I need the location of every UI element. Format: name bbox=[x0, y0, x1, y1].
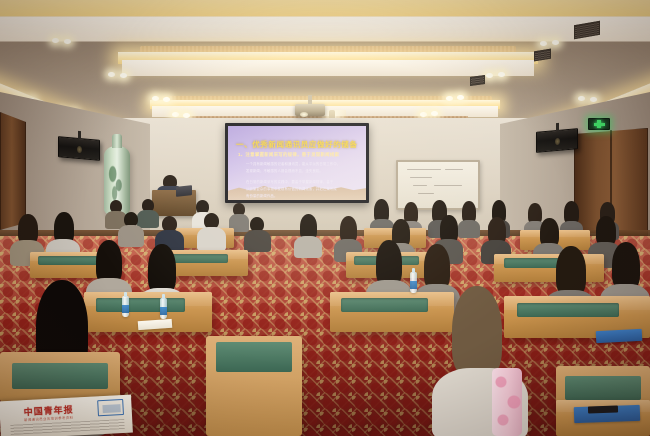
seat-cushion bbox=[96, 298, 186, 312]
downlight bbox=[420, 112, 427, 117]
water-bottle bbox=[410, 272, 417, 293]
exit-sign bbox=[588, 118, 610, 130]
wall-speaker-left bbox=[58, 136, 100, 161]
attendee-torso bbox=[294, 236, 322, 258]
slide-body-line: 从纷繁复杂的事物中发现有价值的新闻线索，并把它采写成 bbox=[246, 186, 356, 192]
downlight bbox=[457, 95, 464, 100]
cove-light-outer bbox=[0, 0, 650, 16]
attendee-torso bbox=[197, 227, 226, 251]
ceiling-air-vent bbox=[534, 49, 551, 62]
desk bbox=[330, 292, 454, 332]
attendee-torso bbox=[137, 210, 159, 228]
whiteboard-writing bbox=[407, 169, 441, 170]
attendee-torso bbox=[118, 225, 144, 247]
downlight bbox=[486, 73, 493, 78]
wall-speaker-right bbox=[536, 128, 578, 153]
seat-cushion bbox=[38, 256, 101, 265]
projection-screen-frame: 一、优秀新闻通讯员应做好的储备 1、注意掌握新闻采写的规律，善于发现新闻线索 一… bbox=[225, 123, 369, 203]
chair-cushion bbox=[565, 376, 640, 400]
whiteboard-writing bbox=[445, 169, 463, 170]
pink-polka-dot-item bbox=[492, 368, 522, 436]
slide-body-line: 一个具有新闻敏感的记者和通讯员，能从平淡的日常工作中， bbox=[246, 161, 356, 167]
slide-title: 一、优秀新闻通讯员应做好的储备 bbox=[236, 139, 360, 150]
exit-cross-icon bbox=[594, 120, 605, 128]
seat-cushion bbox=[341, 298, 428, 312]
ceiling-soffit-middle bbox=[122, 60, 534, 76]
attendee-torso bbox=[244, 230, 271, 252]
downlight bbox=[64, 39, 71, 44]
downlight bbox=[552, 40, 559, 45]
conference-room-photo: 一、优秀新闻通讯员应做好的储备 1、注意掌握新闻采写的规律，善于发现新闻线索 一… bbox=[0, 0, 650, 436]
newspaper: 中国青年报 新闻通讯员业务培训参考资料 bbox=[0, 395, 133, 436]
downlight bbox=[172, 112, 179, 117]
attendee-hair bbox=[452, 286, 502, 378]
attendee-hair bbox=[612, 242, 640, 290]
chair-cushion bbox=[216, 342, 293, 372]
downlight bbox=[163, 97, 170, 102]
attendee-hair bbox=[556, 246, 586, 296]
slide-body-line: 有份量的新闻作品。 bbox=[246, 193, 356, 199]
downlight bbox=[540, 41, 547, 46]
downlight bbox=[498, 72, 505, 77]
slide-subtitle: 1、注意掌握新闻采写的规律，善于发现新闻线索 bbox=[238, 152, 358, 158]
ceiling-projector bbox=[295, 104, 325, 116]
blue-folder bbox=[596, 329, 643, 343]
slide-body-line: 发现新闻；不敏感的人则会视而不见，坐失良机。 bbox=[246, 168, 356, 174]
downlight bbox=[578, 96, 585, 101]
laptop bbox=[176, 185, 192, 197]
downlight bbox=[120, 73, 127, 78]
door-left[interactable] bbox=[0, 112, 26, 230]
downlight bbox=[431, 111, 438, 116]
chair-cushion bbox=[12, 363, 108, 389]
slide-body-line: 在日常的新闻采写的实践中，要善于掌握新闻规律，善于 bbox=[246, 179, 356, 185]
slide-body: 一个具有新闻敏感的记者和通讯员，能从平淡的日常工作中， 发现新闻；不敏感的人则会… bbox=[246, 161, 356, 200]
whiteboard-writing bbox=[410, 177, 432, 178]
mobile-phone bbox=[588, 405, 618, 413]
whiteboard-writing bbox=[413, 185, 427, 186]
chair-back bbox=[206, 336, 302, 436]
seat-cushion bbox=[517, 303, 619, 317]
downlight bbox=[52, 38, 59, 43]
downlight bbox=[590, 97, 597, 102]
water-bottle bbox=[122, 296, 129, 317]
attendee-hair bbox=[148, 244, 176, 294]
ceiling bbox=[0, 0, 650, 128]
desk bbox=[494, 254, 604, 282]
attendee-torso bbox=[458, 220, 480, 238]
ceiling-soffit-outer bbox=[0, 16, 650, 41]
water-bottle bbox=[160, 298, 167, 319]
downlight bbox=[108, 72, 115, 77]
downlight bbox=[152, 96, 159, 101]
whiteboard-writing bbox=[418, 193, 434, 194]
newspaper-logo-box bbox=[97, 399, 124, 416]
whiteboard-writing bbox=[434, 185, 462, 186]
projection-screen: 一、优秀新闻通讯员应做好的储备 1、注意掌握新闻采写的规律，善于发现新闻线索 一… bbox=[228, 126, 366, 200]
chair-back bbox=[0, 352, 120, 402]
downlight bbox=[446, 96, 453, 101]
ceiling-air-vent bbox=[470, 75, 485, 86]
